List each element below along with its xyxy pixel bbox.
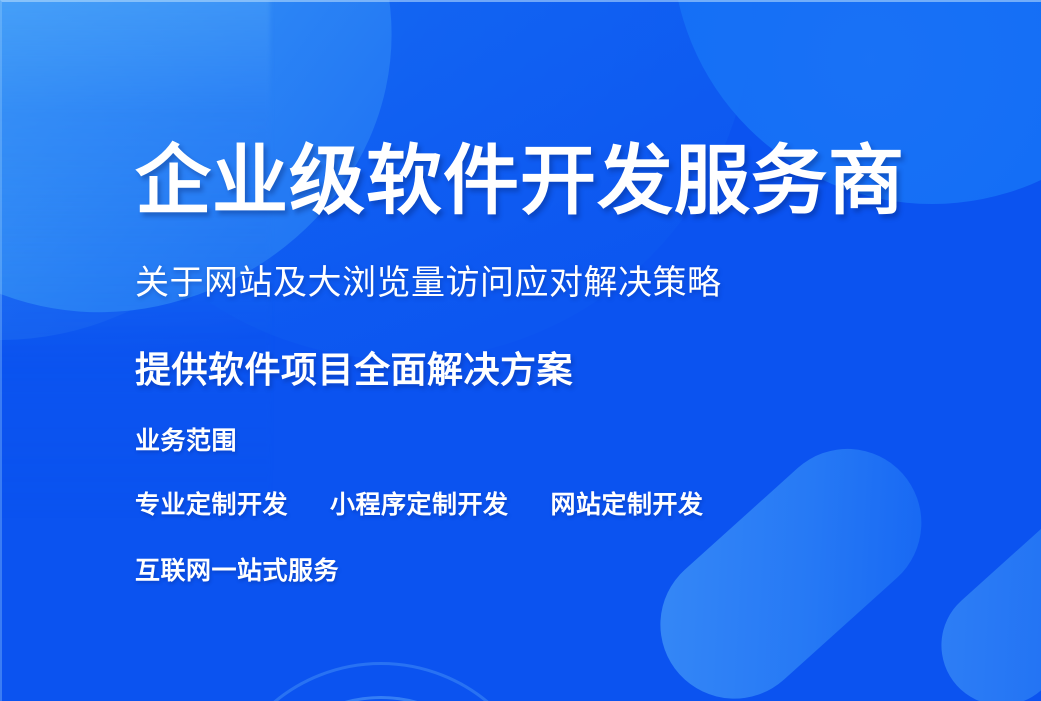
- service-list: 专业定制开发 小程序定制开发 网站定制开发: [135, 492, 704, 517]
- service-item: 网站定制开发: [551, 492, 704, 517]
- business-scope-label: 业务范围: [135, 428, 237, 453]
- service-item: 专业定制开发: [135, 492, 288, 517]
- banner-tagline: 提供软件项目全面解决方案: [135, 353, 573, 389]
- promo-banner: 企业级软件开发服务商 关于网站及大浏览量访问应对解决策略 提供软件项目全面解决方…: [0, 0, 1041, 701]
- banner-footline: 互联网一站式服务: [135, 558, 339, 583]
- banner-content: 企业级软件开发服务商 关于网站及大浏览量访问应对解决策略 提供软件项目全面解决方…: [0, 0, 1041, 701]
- service-item: 小程序定制开发: [330, 492, 509, 517]
- banner-subline: 关于网站及大浏览量访问应对解决策略: [135, 266, 722, 300]
- banner-headline: 企业级软件开发服务商: [135, 143, 905, 219]
